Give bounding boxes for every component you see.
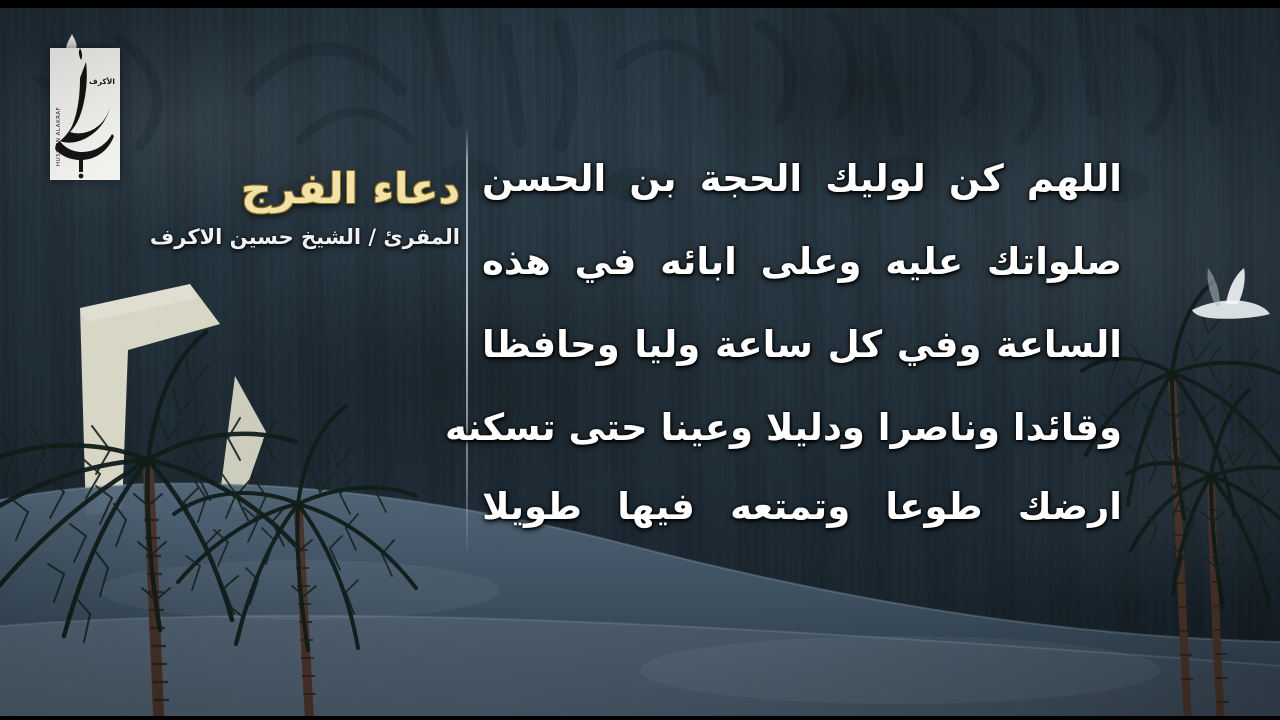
svg-text:الأكرف: الأكرف	[89, 77, 115, 86]
reciter-subtitle: المقرئ / الشيخ حسين الاكرف	[110, 225, 460, 250]
channel-logo[interactable]: الأكرف HUSSAIN ALAKRAF	[50, 48, 120, 180]
video-still-canvas: الأكرف HUSSAIN ALAKRAF دعاء الفرج المقرئ…	[0, 0, 1280, 720]
svg-text:HUSSAIN ALAKRAF: HUSSAIN ALAKRAF	[56, 107, 62, 166]
dove-icon	[1186, 262, 1272, 328]
letterbox-top-bar	[0, 0, 1280, 8]
palm-tree-icon	[170, 400, 420, 720]
dua-line: صلواتك عليه وعلى ابائه في هذه	[482, 243, 1122, 280]
dua-line: الساعة وفي كل ساعة وليا وحافظا	[482, 326, 1122, 363]
dua-line: وقائدا وناصرا ودليلا وعينا حتى تسكنه	[482, 409, 1122, 446]
dua-line: اللهم كن لوليك الحجة بن الحسن	[482, 160, 1122, 197]
dua-text-block: اللهم كن لوليك الحجة بن الحسن صلواتك علي…	[482, 160, 1122, 525]
vertical-divider	[466, 128, 468, 560]
palm-tree-icon	[1125, 360, 1280, 720]
letterbox-bottom-bar	[0, 716, 1280, 720]
title-block: دعاء الفرج المقرئ / الشيخ حسين الاكرف	[110, 166, 460, 251]
page-title: دعاء الفرج	[110, 166, 460, 211]
dua-line: ارضك طوعا وتمتعه فيها طويلا	[482, 488, 1122, 525]
